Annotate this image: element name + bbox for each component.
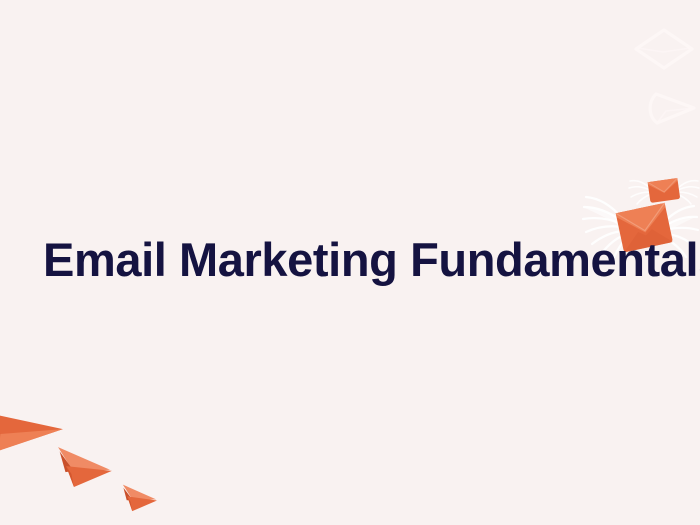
outline-diamond-icon: [630, 22, 698, 76]
page-title: Email Marketing Fundamentals: [43, 232, 663, 288]
paper-plane-small-icon: [118, 482, 160, 516]
slide-canvas: Email Marketing Fundamentals: [0, 0, 700, 525]
winged-envelope-small-icon: [628, 168, 700, 214]
slide-title-text: Email Marketing Fundamentals: [43, 232, 700, 288]
outline-paper-plane-icon: [644, 82, 700, 132]
paper-plane-medium-icon: [52, 444, 116, 492]
paper-plane-large-icon: [0, 410, 64, 466]
